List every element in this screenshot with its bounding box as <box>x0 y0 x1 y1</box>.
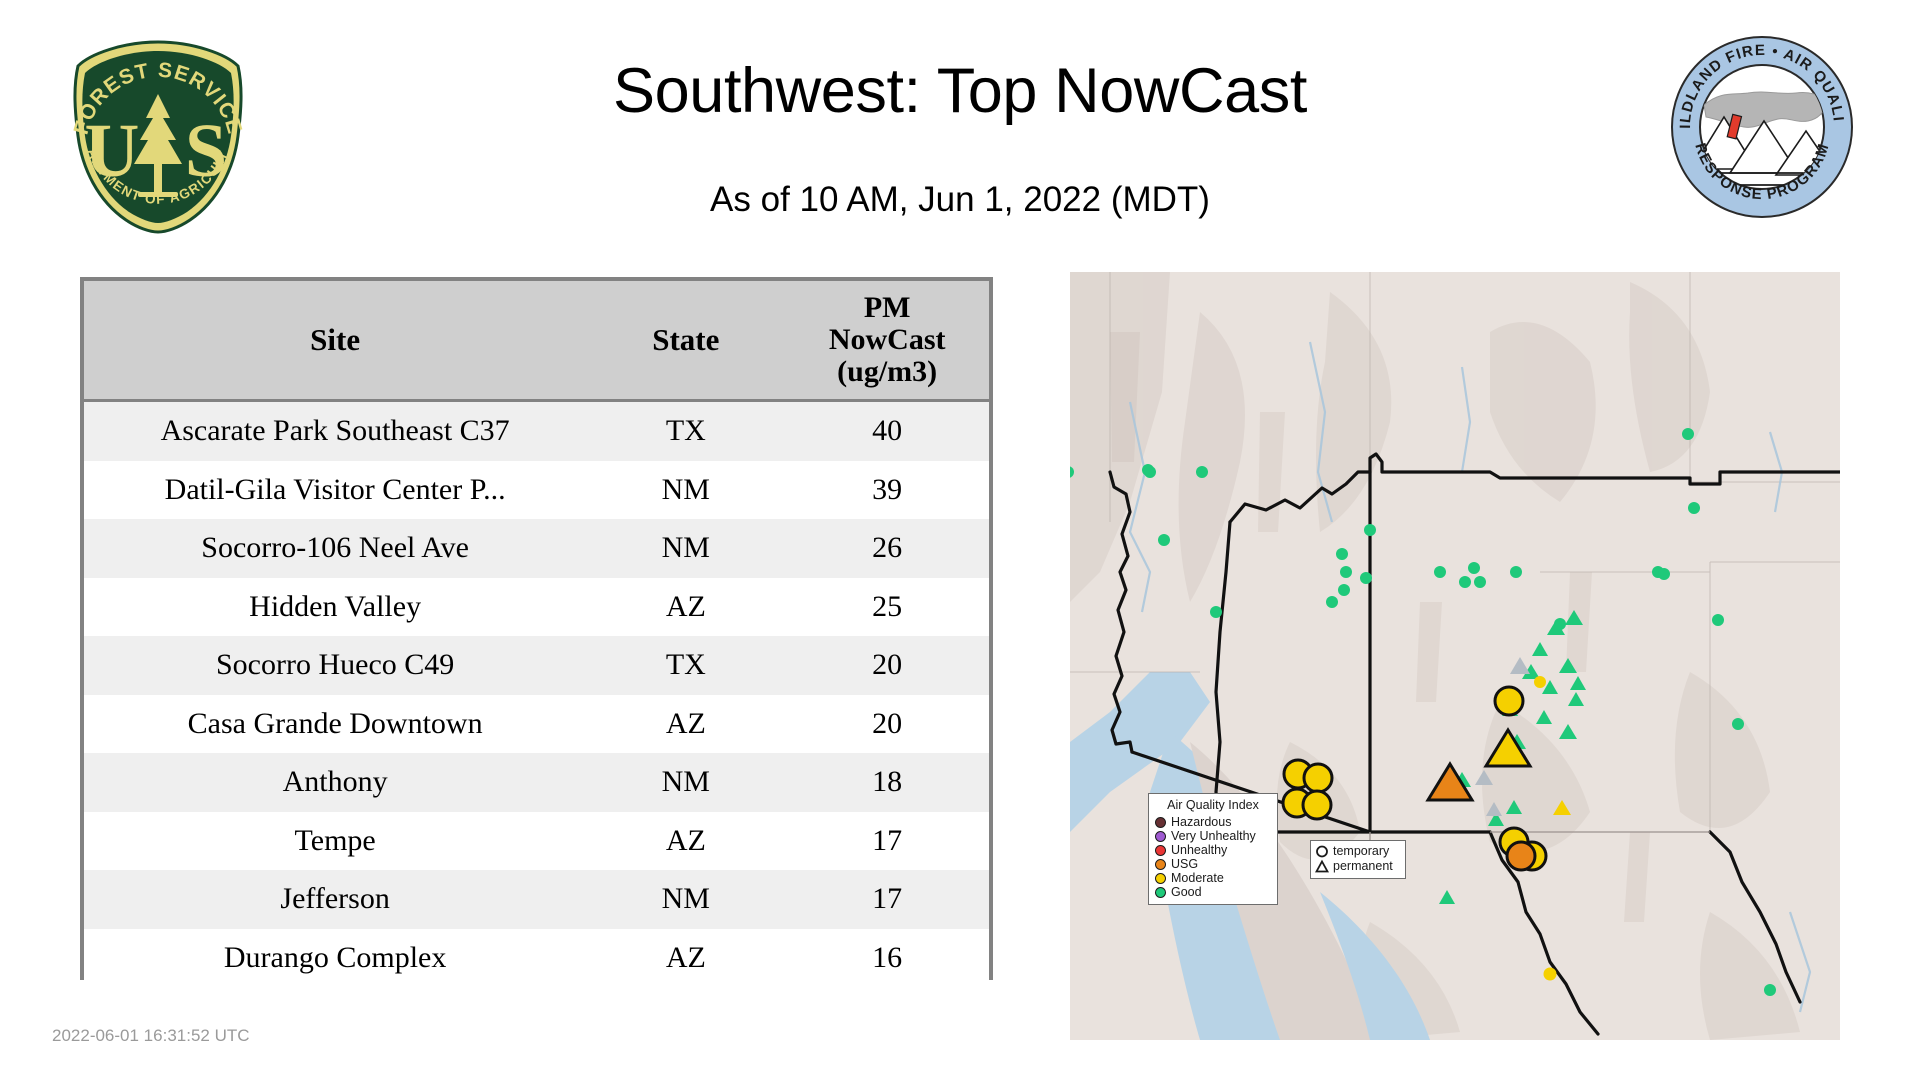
wfaqrp-seal-logo: WILDLAND FIRE • AIR QUALITY RESPONSE PRO… <box>1668 33 1856 221</box>
header: FOREST SERVICE DEPARTMENT OF AGRICULTURE… <box>0 0 1920 270</box>
table-cell-pm: 18 <box>785 753 989 812</box>
column-header-site[interactable]: Site <box>84 281 586 401</box>
usfs-shield-logo: FOREST SERVICE DEPARTMENT OF AGRICULTURE… <box>58 36 258 236</box>
table-cell-pm: 40 <box>785 401 989 461</box>
aqi-legend-row: Good <box>1155 885 1271 899</box>
nowcast-table: Site State PM NowCast (ug/m3) Ascarate P… <box>84 281 989 987</box>
symbol-legend-label-temporary: temporary <box>1333 844 1389 859</box>
table-cell-state: NM <box>586 753 785 812</box>
symbol-legend-row-permanent: permanent <box>1315 859 1401 874</box>
aqi-legend-label: USG <box>1171 857 1198 871</box>
table-body: Ascarate Park Southeast C37TX40Datil-Gil… <box>84 401 989 988</box>
aqi-legend-label: Unhealthy <box>1171 843 1227 857</box>
table-cell-state: AZ <box>586 929 785 988</box>
pm-head-line-2: NowCast <box>791 324 983 356</box>
table-row[interactable]: Ascarate Park Southeast C37TX40 <box>84 401 989 461</box>
aqi-color-swatch-icon <box>1155 887 1166 898</box>
svg-text:U: U <box>85 109 140 193</box>
nowcast-table-panel: Site State PM NowCast (ug/m3) Ascarate P… <box>80 277 993 980</box>
symbol-legend: temporary permanent <box>1310 840 1406 879</box>
table-cell-state: NM <box>586 461 785 520</box>
footer-timestamp: 2022-06-01 16:31:52 UTC <box>52 1026 250 1046</box>
table-cell-state: NM <box>586 870 785 929</box>
table-row[interactable]: Socorro Hueco C49TX20 <box>84 636 989 695</box>
table-header: Site State PM NowCast (ug/m3) <box>84 281 989 401</box>
table-cell-pm: 20 <box>785 636 989 695</box>
table-cell-site: Jefferson <box>84 870 586 929</box>
aqi-legend-row: USG <box>1155 857 1271 871</box>
table-cell-site: Durango Complex <box>84 929 586 988</box>
aqi-color-swatch-icon <box>1155 859 1166 870</box>
table-row[interactable]: Casa Grande DowntownAZ20 <box>84 695 989 754</box>
table-cell-state: AZ <box>586 695 785 754</box>
column-header-state[interactable]: State <box>586 281 785 401</box>
table-cell-site: Tempe <box>84 812 586 871</box>
air-quality-map[interactable] <box>1070 272 1840 1040</box>
aqi-legend-row: Very Unhealthy <box>1155 829 1271 843</box>
aqi-legend-row: Unhealthy <box>1155 843 1271 857</box>
table-cell-state: TX <box>586 636 785 695</box>
column-header-pm-nowcast[interactable]: PM NowCast (ug/m3) <box>785 281 989 401</box>
aqi-legend-label: Good <box>1171 885 1202 899</box>
table-cell-site: Anthony <box>84 753 586 812</box>
aqi-legend: Air Quality Index HazardousVery Unhealth… <box>1148 793 1278 905</box>
aqi-legend-rows: HazardousVery UnhealthyUnhealthyUSGModer… <box>1155 815 1271 899</box>
table-cell-site: Socorro-106 Neel Ave <box>84 519 586 578</box>
aqi-color-swatch-icon <box>1155 831 1166 842</box>
table-cell-pm: 17 <box>785 870 989 929</box>
pm-head-line-1: PM <box>791 292 983 324</box>
circle-icon <box>1315 844 1329 859</box>
aqi-legend-title: Air Quality Index <box>1155 798 1271 812</box>
svg-text:S: S <box>185 109 227 193</box>
table-row[interactable]: Datil-Gila Visitor Center P...NM39 <box>84 461 989 520</box>
table-cell-pm: 39 <box>785 461 989 520</box>
aqi-legend-label: Very Unhealthy <box>1171 829 1256 843</box>
table-cell-state: TX <box>586 401 785 461</box>
table-cell-state: NM <box>586 519 785 578</box>
table-cell-site: Casa Grande Downtown <box>84 695 586 754</box>
symbol-legend-row-temporary: temporary <box>1315 844 1401 859</box>
triangle-icon <box>1315 859 1329 874</box>
aqi-legend-label: Moderate <box>1171 871 1224 885</box>
table-cell-pm: 25 <box>785 578 989 637</box>
table-row[interactable]: JeffersonNM17 <box>84 870 989 929</box>
table-cell-pm: 20 <box>785 695 989 754</box>
page-title: Southwest: Top NowCast <box>300 55 1620 127</box>
table-cell-pm: 26 <box>785 519 989 578</box>
table-cell-pm: 16 <box>785 929 989 988</box>
table-cell-state: AZ <box>586 812 785 871</box>
table-row[interactable]: Durango ComplexAZ16 <box>84 929 989 988</box>
table-row[interactable]: Hidden ValleyAZ25 <box>84 578 989 637</box>
table-cell-state: AZ <box>586 578 785 637</box>
aqi-color-swatch-icon <box>1155 817 1166 828</box>
aqi-color-swatch-icon <box>1155 845 1166 856</box>
page-subtitle: As of 10 AM, Jun 1, 2022 (MDT) <box>300 180 1620 220</box>
table-row[interactable]: Socorro-106 Neel AveNM26 <box>84 519 989 578</box>
pm-head-line-3: (ug/m3) <box>791 356 983 388</box>
table-cell-site: Socorro Hueco C49 <box>84 636 586 695</box>
table-row[interactable]: AnthonyNM18 <box>84 753 989 812</box>
table-row[interactable]: TempeAZ17 <box>84 812 989 871</box>
table-cell-site: Datil-Gila Visitor Center P... <box>84 461 586 520</box>
aqi-legend-row: Hazardous <box>1155 815 1271 829</box>
aqi-color-swatch-icon <box>1155 873 1166 884</box>
table-header-row: Site State PM NowCast (ug/m3) <box>84 281 989 401</box>
symbol-legend-label-permanent: permanent <box>1333 859 1393 874</box>
table-cell-site: Ascarate Park Southeast C37 <box>84 401 586 461</box>
table-cell-site: Hidden Valley <box>84 578 586 637</box>
aqi-legend-row: Moderate <box>1155 871 1271 885</box>
table-cell-pm: 17 <box>785 812 989 871</box>
aqi-legend-label: Hazardous <box>1171 815 1231 829</box>
